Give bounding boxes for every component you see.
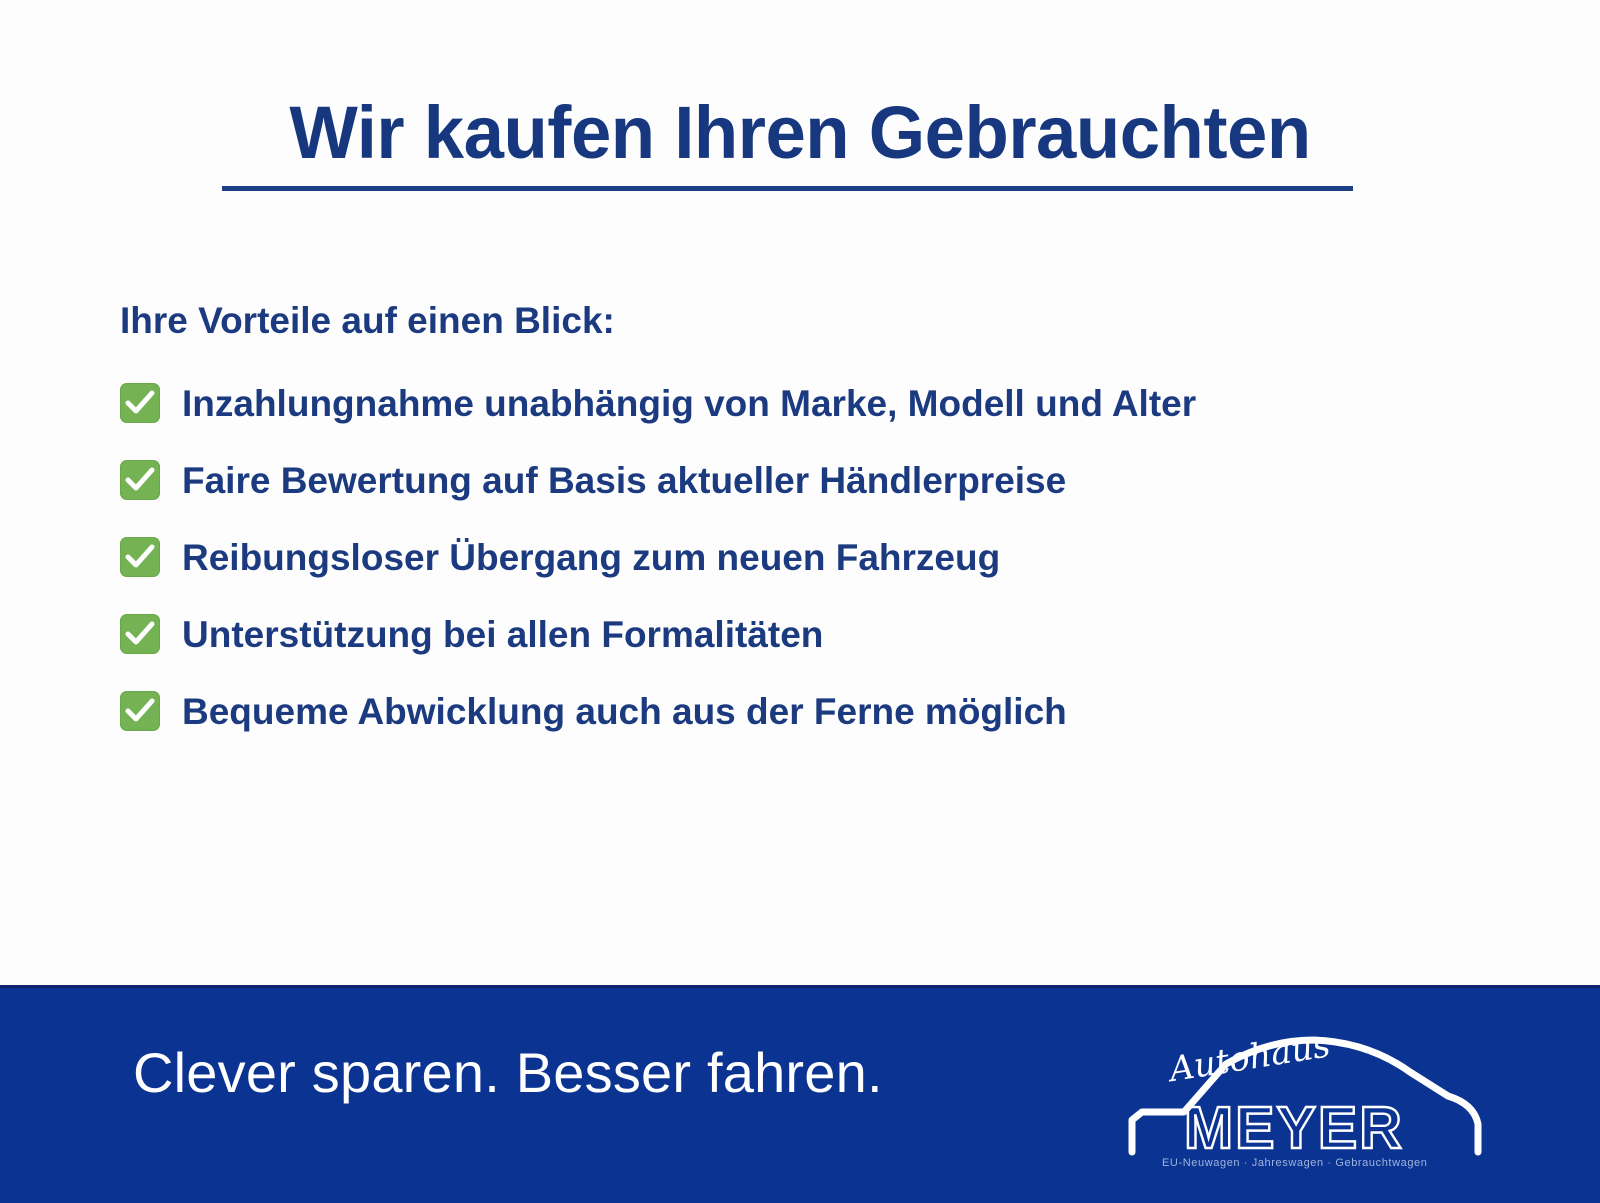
- check-icon: [120, 614, 160, 654]
- check-icon: [120, 537, 160, 577]
- logo-script-text: Autohaus: [1164, 1025, 1333, 1090]
- check-icon: [120, 460, 160, 500]
- list-item: Unterstützung bei allen Formalitäten: [120, 609, 1520, 659]
- list-item: Faire Bewertung auf Basis aktueller Händ…: [120, 455, 1520, 505]
- benefits-list: Inzahlungnahme unabhängig von Marke, Mod…: [120, 378, 1520, 763]
- list-item-label: Inzahlungnahme unabhängig von Marke, Mod…: [182, 385, 1196, 422]
- list-item: Bequeme Abwicklung auch aus der Ferne mö…: [120, 686, 1520, 736]
- page-title-text: Wir kaufen Ihren Gebrauchten: [289, 96, 1310, 170]
- title-underline-rule: [222, 186, 1353, 191]
- list-item-label: Reibungsloser Übergang zum neuen Fahrzeu…: [182, 539, 1000, 576]
- list-item-label: Bequeme Abwicklung auch aus der Ferne mö…: [182, 693, 1067, 730]
- list-item-label: Unterstützung bei allen Formalitäten: [182, 616, 823, 653]
- logo-tagline: EU-Neuwagen · Jahreswagen · Gebrauchtwag…: [1162, 1157, 1428, 1169]
- list-item-label: Faire Bewertung auf Basis aktueller Händ…: [182, 462, 1066, 499]
- list-item: Inzahlungnahme unabhängig von Marke, Mod…: [120, 378, 1520, 428]
- dealer-logo: Autohaus MEYER EU-Neuwagen · Jahreswagen…: [1118, 1000, 1488, 1180]
- poster-canvas: Wir kaufen Ihren Gebrauchten Ihre Vortei…: [0, 0, 1600, 1200]
- list-item: Reibungsloser Übergang zum neuen Fahrzeu…: [120, 532, 1520, 582]
- benefits-subtitle: Ihre Vorteile auf einen Blick:: [120, 300, 615, 342]
- footer-banner: Clever sparen. Besser fahren. Autohaus M…: [0, 985, 1600, 1203]
- banner-slogan: Clever sparen. Besser fahren.: [133, 1040, 883, 1105]
- check-icon: [120, 383, 160, 423]
- logo-wordmark: MEYER: [1184, 1095, 1404, 1161]
- page-title: Wir kaufen Ihren Gebrauchten: [0, 96, 1600, 170]
- check-icon: [120, 691, 160, 731]
